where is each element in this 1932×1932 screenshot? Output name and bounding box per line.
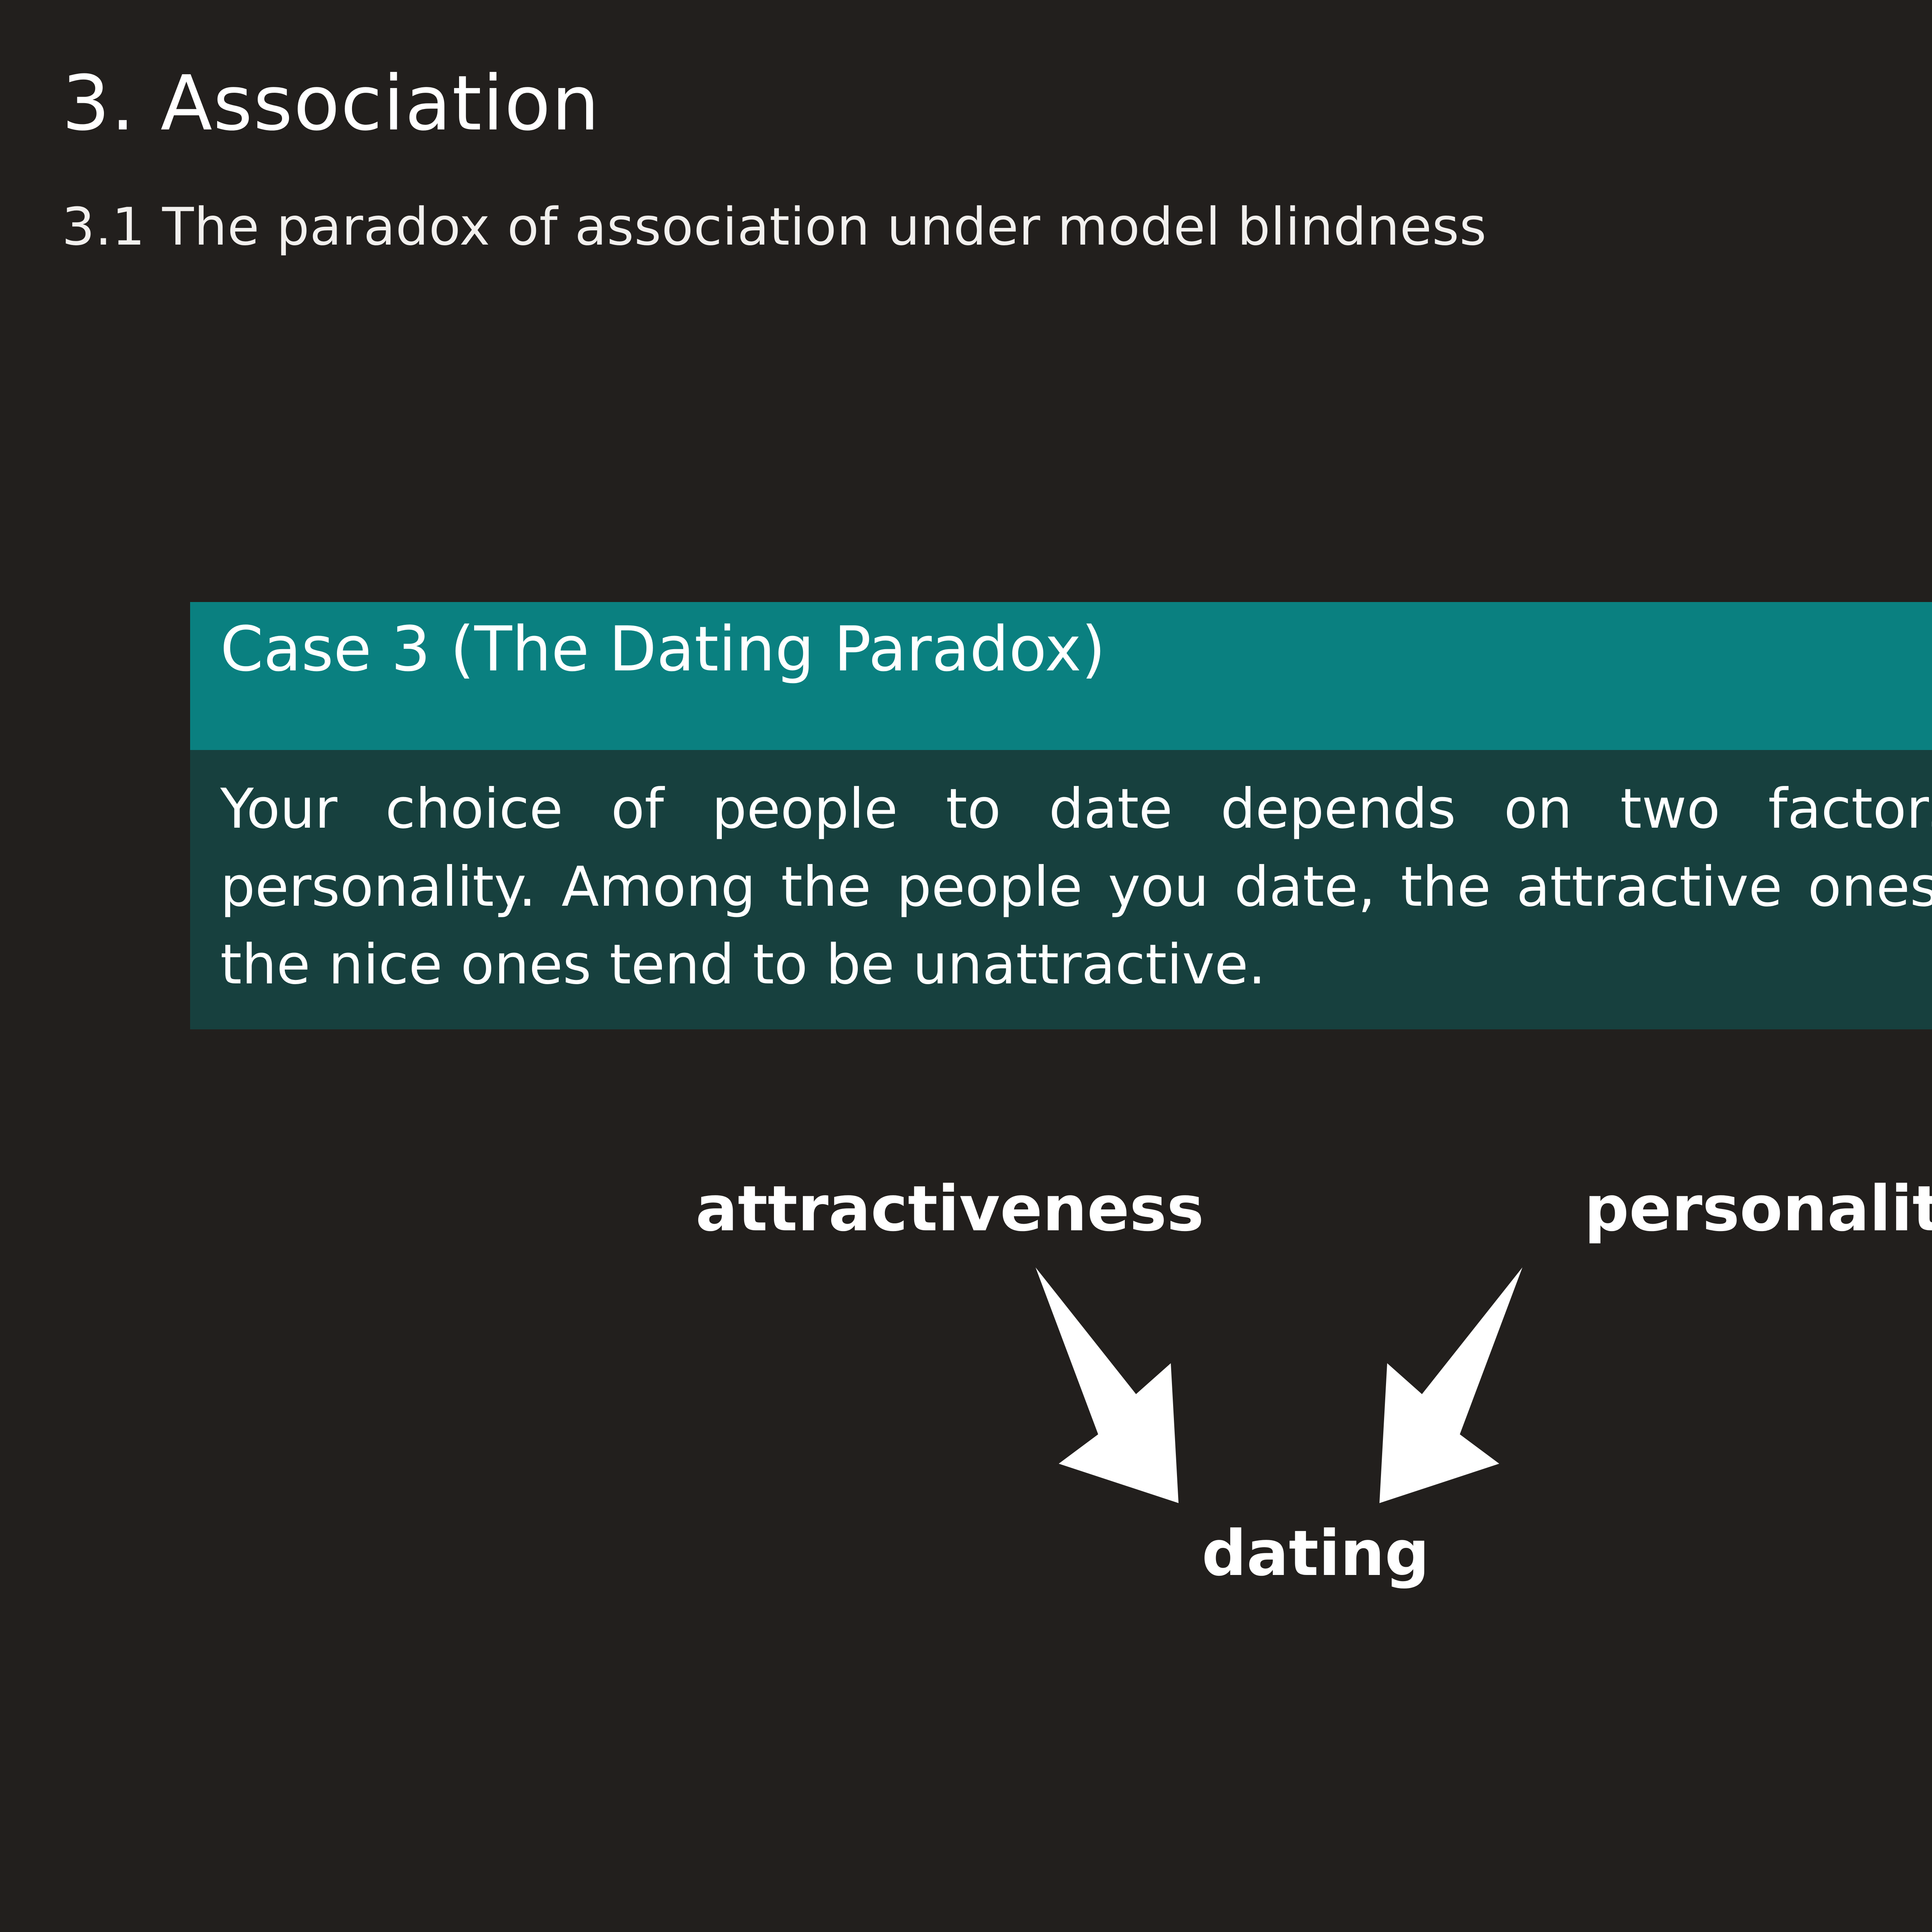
dag-node-dating: dating [1202, 1522, 1430, 1585]
dag-node-personality: personality [1584, 1178, 1932, 1240]
block-body-text: Your choice of people to date depends on… [220, 770, 1932, 1004]
arrow-personality-to-dating [1379, 1267, 1522, 1503]
block-title: Case 3 (The Dating Paradox) [220, 618, 1932, 680]
subsection-title: 3.1 The paradox of association under mod… [62, 201, 1487, 253]
causal-dag-diagram: attractiveness personality dating [638, 1144, 1932, 1619]
block-body: Your choice of people to date depends on… [190, 750, 1932, 1029]
page-title: 3. Association [62, 66, 600, 141]
block-title-bar: Case 3 (The Dating Paradox) [190, 602, 1932, 750]
dag-node-attractiveness: attractiveness [696, 1178, 1204, 1240]
arrow-attractiveness-to-dating [1036, 1267, 1179, 1503]
example-block: Case 3 (The Dating Paradox) Your choice … [190, 602, 1932, 1029]
